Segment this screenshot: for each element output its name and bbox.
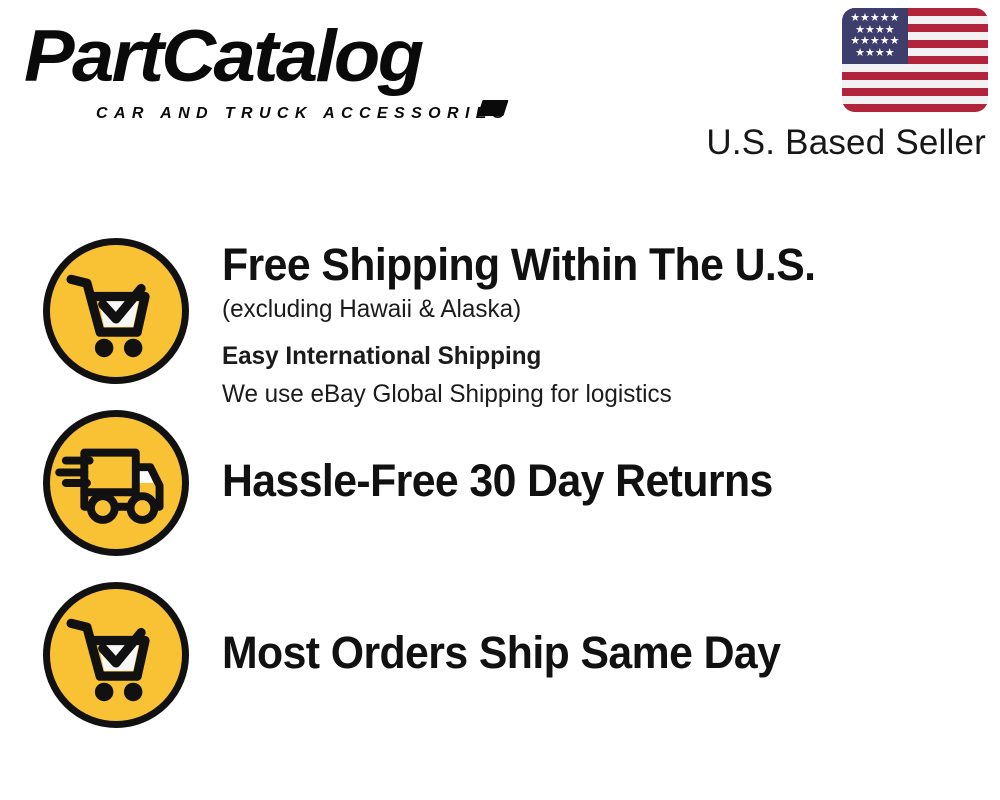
feature-text: Free Shipping Within The U.S. (excluding… [189, 238, 1000, 414]
feature-title: Hassle-Free 30 Day Returns [222, 456, 961, 506]
feature-title: Free Shipping Within The U.S. [222, 240, 961, 290]
feature-title: Most Orders Ship Same Day [222, 628, 961, 678]
us-flag-icon: ★★★★★ ★★★★ ★★★★★ ★★★★ [842, 8, 988, 112]
feature-text: Most Orders Ship Same Day [189, 582, 1000, 678]
promo-banner: PartCatalog CAR AND TRUCK ACCESSORIES [0, 0, 1000, 800]
feature-sub-plain: We use eBay Global Shipping for logistic… [222, 376, 977, 414]
feature-sub-strong: Easy International Shipping [222, 338, 977, 376]
brand-logo: PartCatalog CAR AND TRUCK ACCESSORIES [24, 22, 494, 118]
delivery-truck-icon [43, 410, 189, 556]
feature-list: Free Shipping Within The U.S. (excluding… [0, 238, 1000, 754]
logo-accent-slash [477, 100, 508, 116]
us-based-seller-block: ★★★★★ ★★★★ ★★★★★ ★★★★ U.S. Based Seller [698, 8, 988, 163]
feature-text: Hassle-Free 30 Day Returns [189, 410, 1000, 506]
brand-tagline: CAR AND TRUCK ACCESSORIES [96, 105, 510, 123]
us-based-seller-label: U.S. Based Seller [698, 123, 986, 163]
feature-row: Most Orders Ship Same Day [0, 582, 1000, 754]
feature-subnote: (excluding Hawaii & Alaska) [222, 291, 977, 329]
brand-wordmark: PartCatalog [24, 18, 421, 95]
shopping-cart-check-icon [43, 238, 189, 384]
feature-row: Free Shipping Within The U.S. (excluding… [0, 238, 1000, 410]
flag-canton: ★★★★★ ★★★★ ★★★★★ ★★★★ [842, 8, 908, 64]
feature-row: Hassle-Free 30 Day Returns [0, 410, 1000, 582]
shopping-cart-check-icon [43, 582, 189, 728]
